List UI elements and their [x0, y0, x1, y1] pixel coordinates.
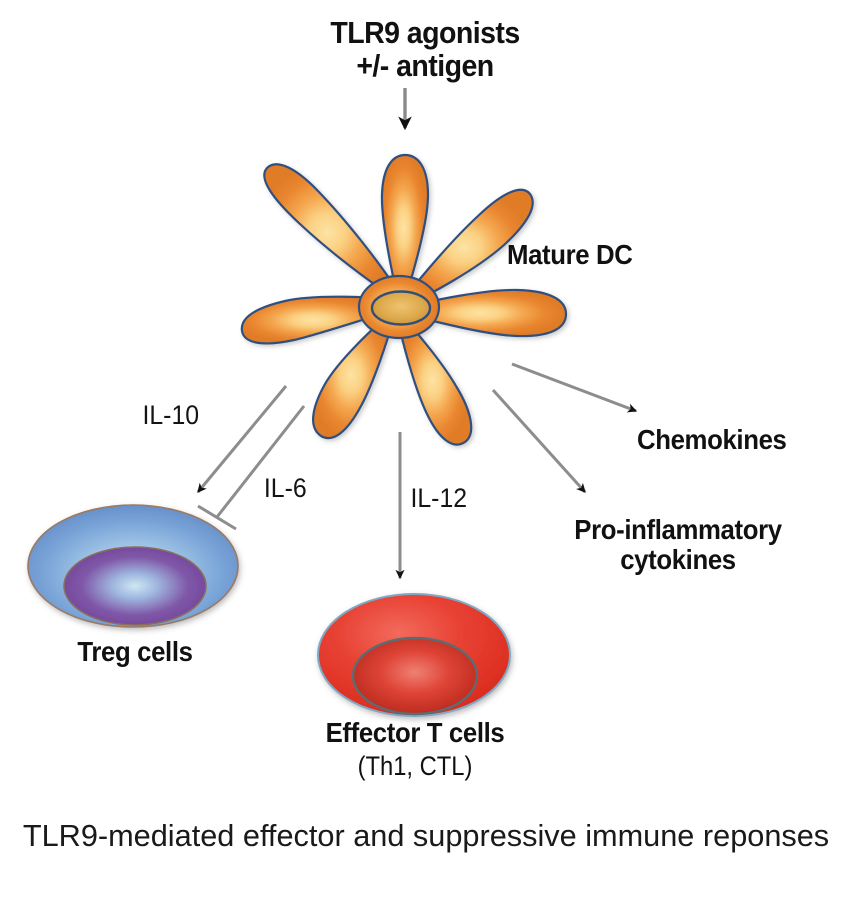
title-line-1: TLR9 agonists [330, 15, 519, 50]
title-line-2: +/- antigen [34, 49, 816, 82]
effector-nucleus [353, 638, 477, 714]
dc-nucleus [372, 292, 430, 325]
node-label-chemokines: Chemokines [637, 425, 787, 455]
node-label-treg-cells: Treg cells [29, 637, 241, 667]
treg-cell [28, 505, 238, 627]
figure-title: TLR9 agonists +/- antigen [34, 16, 816, 83]
mature-dc-cell [242, 155, 566, 445]
effector-t-cell [318, 594, 510, 716]
edge-label-il6: IL-6 [264, 473, 307, 504]
node-label-effector-t-cells: Effector T cells [291, 718, 539, 748]
figure-caption: TLR9-mediated effector and suppressive i… [0, 818, 850, 854]
edge-label-il12: IL-12 [410, 483, 467, 514]
edge-label-il10: IL-10 [142, 400, 199, 431]
treg-nucleus [64, 547, 206, 625]
edge-chemokines [512, 364, 636, 411]
node-label-mature-dc: Mature DC [507, 240, 633, 270]
node-sublabel-effector-subtypes: (Th1, CTL) [296, 752, 534, 781]
edge-il6 [198, 406, 304, 529]
edge-proinflammatory [493, 390, 585, 492]
node-label-proinflammatory-cytokines: Pro-inflammatory cytokines [545, 515, 812, 575]
